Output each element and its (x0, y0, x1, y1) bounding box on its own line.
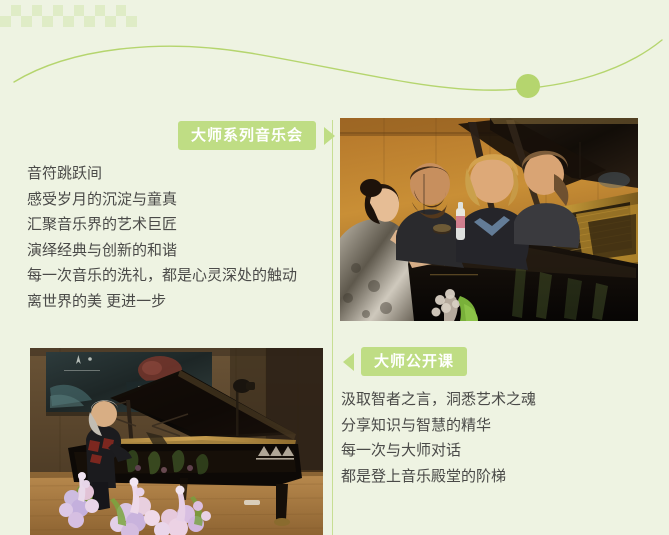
checker-cell (21, 5, 32, 16)
checker-cell (95, 16, 106, 27)
concert-copy-block: 音符跳跃间 感受岁月的沉淀与童真 汇聚音乐界的艺术巨匠 演绎经典与创新的和谐 每… (27, 161, 297, 314)
copy-line: 分享知识与智慧的精华 (341, 413, 536, 439)
checker-cell (53, 5, 64, 16)
section-badge-label: 大师系列音乐会 (178, 121, 316, 150)
copy-line: 每一次与大师对话 (341, 438, 536, 464)
copy-line: 离世界的美 更进一步 (27, 289, 297, 315)
masterclass-copy-block: 汲取智者之言，洞悉艺术之魂 分享知识与智慧的精华 每一次与大师对话 都是登上音乐… (341, 387, 536, 489)
copy-line: 音符跳跃间 (27, 161, 297, 187)
checker-cell (21, 16, 32, 27)
checker-cell (32, 5, 43, 16)
checker-cell (126, 16, 137, 27)
vertical-divider (332, 120, 333, 535)
copy-line: 汇聚音乐界的艺术巨匠 (27, 212, 297, 238)
checker-cell (63, 16, 74, 27)
copy-line: 汲取智者之言，洞悉艺术之魂 (341, 387, 536, 413)
checker-cell (11, 16, 22, 27)
section-badge-masterclass[interactable]: 大师公开课 (343, 347, 467, 376)
checker-cell (95, 5, 106, 16)
checker-cell (84, 5, 95, 16)
checker-cell (0, 16, 11, 27)
swoosh-curve (0, 20, 669, 115)
chevron-right-icon (324, 127, 335, 145)
checker-cell (74, 5, 85, 16)
checker-strip (0, 5, 137, 27)
masterclass-photo (30, 348, 323, 535)
checker-cell (116, 16, 127, 27)
checker-cell (32, 16, 43, 27)
checker-cell (105, 5, 116, 16)
checker-cell (84, 16, 95, 27)
checker-cell (74, 16, 85, 27)
checker-cell (42, 5, 53, 16)
checker-cell (126, 5, 137, 16)
accent-dot (516, 74, 540, 98)
checker-cell (116, 5, 127, 16)
section-badge-concert[interactable]: 大师系列音乐会 (178, 121, 335, 150)
checker-cell (63, 5, 74, 16)
checker-row (0, 16, 137, 27)
concert-photo (340, 118, 638, 321)
copy-line: 都是登上音乐殿堂的阶梯 (341, 464, 536, 490)
checker-row (0, 5, 137, 16)
chevron-left-icon (343, 353, 354, 371)
checker-cell (53, 16, 64, 27)
copy-line: 演绎经典与创新的和谐 (27, 238, 297, 264)
section-badge-label: 大师公开课 (361, 347, 467, 376)
checker-cell (11, 5, 22, 16)
checker-cell (0, 5, 11, 16)
checker-cell (105, 16, 116, 27)
checker-cell (42, 16, 53, 27)
copy-line: 每一次音乐的洗礼，都是心灵深处的触动 (27, 263, 297, 289)
copy-line: 感受岁月的沉淀与童真 (27, 187, 297, 213)
